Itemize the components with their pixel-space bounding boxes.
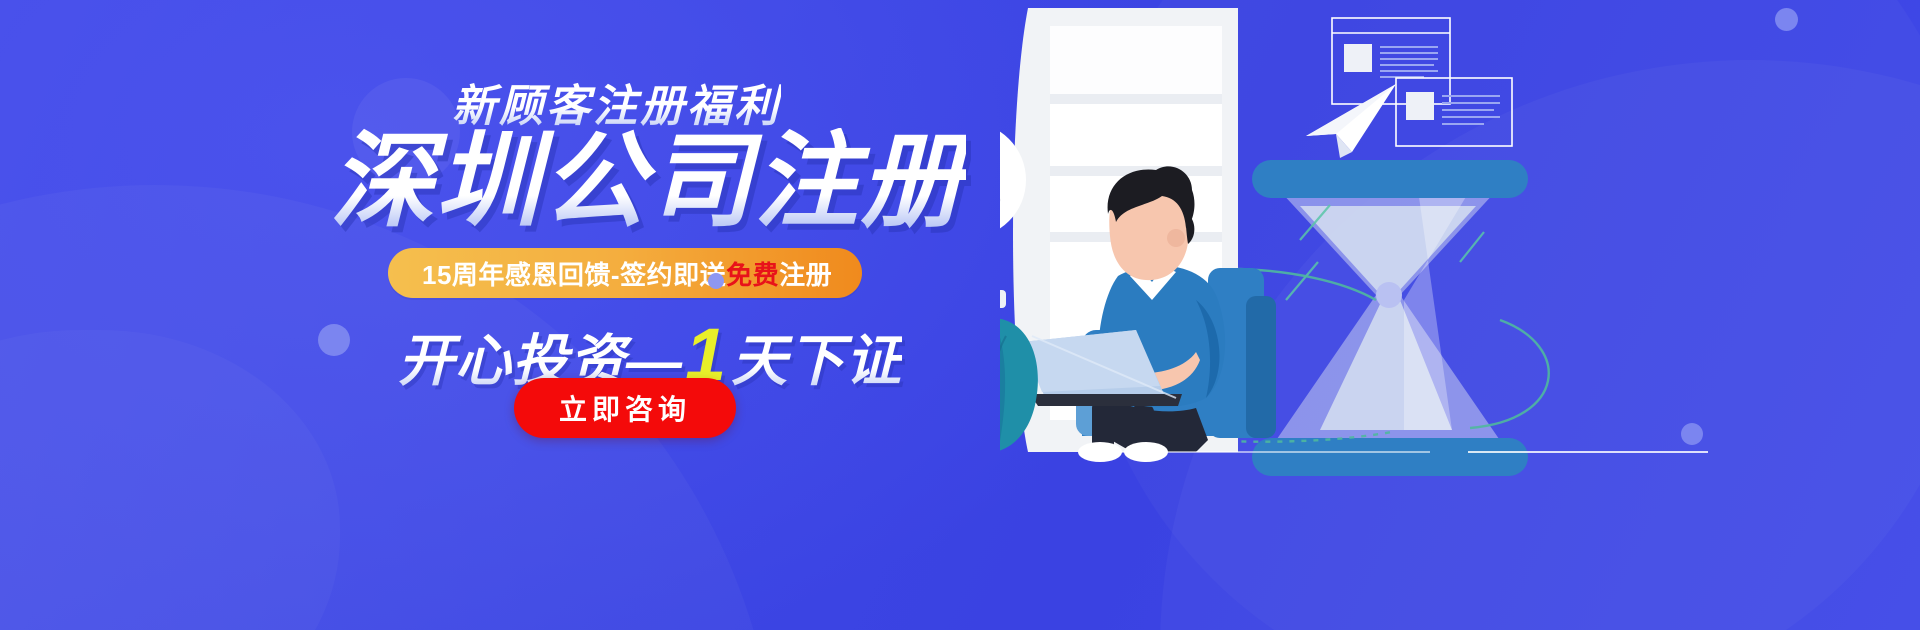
promo-badge: 15周年感恩回馈-签约即送 免费 注册 bbox=[388, 248, 862, 298]
document-window-front bbox=[1396, 78, 1512, 146]
promo-banner: 新顾客注册福利 深圳公司注册 15周年感恩回馈-签约即送 免费 注册 开心投资—… bbox=[0, 0, 1920, 630]
promo-badge-prefix: 15周年感恩回馈-签约即送 bbox=[422, 255, 726, 292]
banner-copy: 新顾客注册福利 深圳公司注册 15周年感恩回馈-签约即送 免费 注册 开心投资—… bbox=[0, 0, 940, 630]
hourglass-icon bbox=[1252, 160, 1528, 476]
paper-plane-icon bbox=[1306, 84, 1396, 158]
tagline-after: 天下证 bbox=[731, 316, 902, 397]
page-title: 深圳公司注册 bbox=[330, 128, 966, 237]
decorative-dot bbox=[708, 273, 724, 289]
ground-line-right bbox=[1468, 451, 1708, 453]
office-illustration bbox=[1000, 0, 1920, 630]
ground-line-left bbox=[1100, 451, 1430, 453]
promo-badge-suffix: 注册 bbox=[779, 255, 832, 292]
consult-now-button[interactable]: 立即咨询 bbox=[514, 378, 736, 438]
promo-badge-highlight: 免费 bbox=[726, 255, 779, 292]
